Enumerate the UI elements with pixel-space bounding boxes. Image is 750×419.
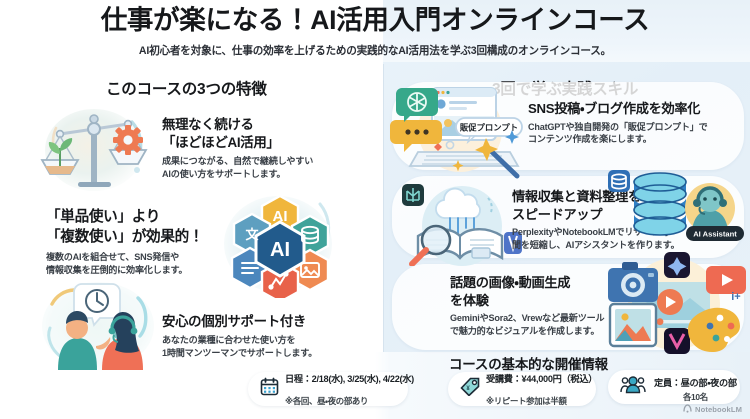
- left-feature-2-title-line2: 「複数使い」が効果的！: [46, 228, 203, 248]
- infographic-page: 仕事が楽になる！AI活用入門オンラインコース AI初心者を対象に、仕事の効率を上…: [0, 0, 750, 419]
- info-pill-schedule: 日程：2/18(水), 3/25(水), 4/22(水) ※各回、昼・夜の部あり: [248, 372, 408, 406]
- watermark-label: NotebookLM: [695, 405, 742, 414]
- schedule-line1: 日程：2/18(水), 3/25(水), 4/22(水): [285, 374, 414, 384]
- image-frame-icon: [610, 304, 656, 346]
- column-divider: [383, 64, 384, 352]
- research-book-illustration: [396, 178, 526, 266]
- skill-1-text: SNS投稿・ブログ作成を効率化 ChatGPTや独自開発の「販促プロンプト」で …: [528, 100, 708, 146]
- left-feature-1-desc-line1: 成果につながる、自然で継続しやすい: [162, 155, 313, 168]
- page-subtitle: AI初心者を対象に、仕事の効率を上げるための実践的なAI活用法を学ぶ3回構成のオ…: [0, 43, 750, 58]
- laptop-social-illustration: 販促プロンプト: [386, 80, 526, 180]
- svg-text:AI: AI: [270, 239, 290, 261]
- price-line1: 受講費：¥44,000円（税込）: [486, 374, 597, 384]
- schedule-line2: ※各回、昼・夜の部あり: [285, 396, 368, 406]
- calendar-icon: [260, 377, 279, 401]
- capacity-line2: 各10名: [654, 392, 737, 403]
- skill-3-desc-line2: で魅力的なビジュアルを作成します。: [450, 325, 604, 338]
- info-pill-capacity: 定員：昼の部・夜の部 各10名: [608, 370, 740, 404]
- notebooklm-watermark: NotebookLM: [683, 404, 742, 415]
- page-title: 仕事が楽になる！AI活用入門オンラインコース: [0, 6, 750, 36]
- prompt-bubble-label: 販促プロンプト: [459, 123, 518, 133]
- ai-hexagon-cluster-illustration: AI 文 AI: [216, 186, 344, 298]
- left-feature-3-title: 安心の個別サポート付き: [162, 313, 317, 331]
- people-group-icon: [620, 375, 646, 399]
- left-feature-2-desc-line1: 複数のAIを組合せて、SNS発信や: [46, 251, 203, 264]
- skill-1-title: SNS投稿・ブログ作成を効率化: [528, 100, 708, 118]
- youtube-play-icon: [706, 266, 746, 294]
- notebooklm-mark-icon: [683, 404, 692, 415]
- left-feature-3-desc-line1: あなたの業種に合わせた使い方を: [162, 334, 317, 347]
- info-pill-price: ¥ 受講費：¥44,000円（税込） ※リピート参加は半額: [448, 372, 596, 406]
- ai-assistant-label: AI Assistant: [686, 226, 744, 241]
- left-feature-2-desc-line2: 情報収集を圧倒的に効率化します。: [46, 264, 203, 277]
- left-feature-1: 無理なく続ける 「ほどほどAI活用」 成果につながる、自然で継続しやすい AIの…: [162, 116, 313, 180]
- balance-scale-illustration: [36, 104, 156, 196]
- media-generation-illustration: i+: [596, 252, 750, 354]
- price-line2: ※リピート参加は半額: [486, 396, 567, 406]
- camera-icon: [608, 262, 658, 302]
- left-feature-1-title-line1: 無理なく続ける: [162, 116, 313, 134]
- left-feature-2-title-line1: 「単品使い」より: [46, 208, 203, 228]
- individual-support-illustration: [36, 276, 164, 370]
- left-feature-2: 「単品使い」より 「複数使い」が効果的！ 複数のAIを組合せて、SNS発信や 情…: [46, 208, 203, 277]
- skill-3-desc-line1: GeminiやSora2、Vrewなど最新ツール: [450, 312, 604, 325]
- svg-text:AI Assistant: AI Assistant: [693, 230, 737, 239]
- price-tag-icon: ¥: [460, 377, 480, 401]
- left-feature-1-desc-line2: AIの使い方をサポートします。: [162, 168, 313, 181]
- vrew-logo-icon: [664, 328, 690, 354]
- header: 仕事が楽になる！AI活用入門オンラインコース AI初心者を対象に、仕事の効率を上…: [0, 6, 750, 58]
- database-ai-assistant-illustration: AI Assistant: [604, 166, 746, 258]
- left-section-heading: このコースの3つの特徴: [106, 77, 267, 99]
- svg-text:文: 文: [245, 227, 259, 242]
- capacity-line1: 定員：昼の部・夜の部: [654, 378, 737, 388]
- skill-1-desc-line1: ChatGPTや独自開発の「販促プロンプト」で: [528, 121, 708, 134]
- left-feature-3: 安心の個別サポート付き あなたの業種に合わせた使い方を 1時間マンツーマンでサポ…: [162, 313, 317, 360]
- skill-3-title-line1: 話題の画像・動画生成: [450, 274, 604, 292]
- svg-text:AI: AI: [273, 208, 288, 225]
- gemini-sparkle-icon: [664, 252, 690, 278]
- plus-marker: i+: [731, 291, 740, 303]
- skill-1-desc-line2: コンテンツ作成を楽にします。: [528, 133, 708, 146]
- left-feature-3-desc-line2: 1時間マンツーマンでサポートします。: [162, 347, 317, 360]
- skill-3-text: 話題の画像・動画生成 を体験 GeminiやSora2、Vrewなど最新ツール …: [450, 274, 604, 338]
- left-feature-1-title-line2: 「ほどほどAI活用」: [162, 134, 313, 152]
- skill-3-title-line2: を体験: [450, 292, 604, 310]
